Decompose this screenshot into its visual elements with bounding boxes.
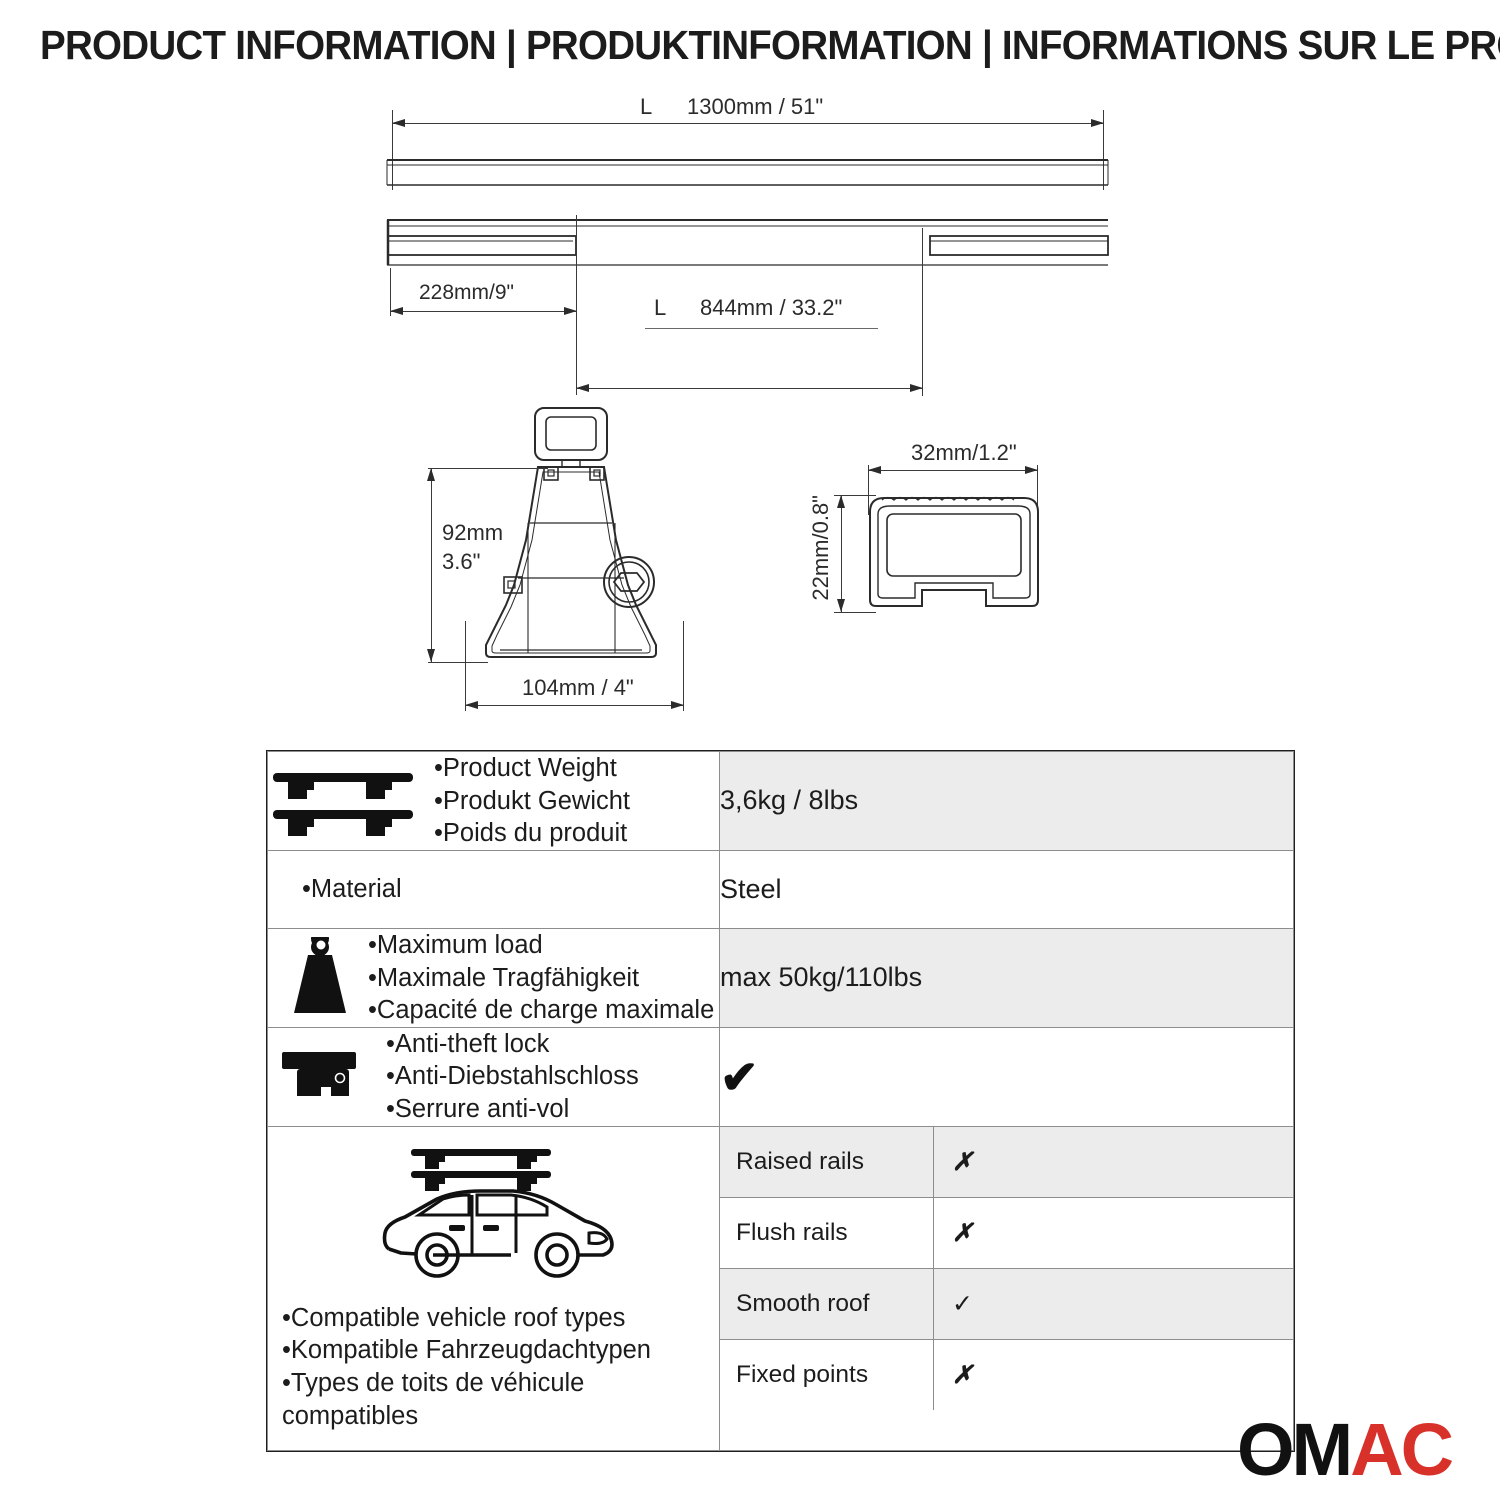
crossbar-side-view-top xyxy=(385,155,1110,195)
compat-mark: ✗ xyxy=(934,1339,1294,1410)
spec-label: •Types de toits de véhicule xyxy=(282,1367,651,1400)
cross-icon: ✗ xyxy=(952,1148,973,1176)
spec-value-material: Steel xyxy=(720,850,1294,928)
spec-label: •Product Weight xyxy=(434,752,630,785)
spec-value-weight: 3,6kg / 8lbs xyxy=(720,752,1294,851)
compat-row-flush-rails: Flush rails ✗ xyxy=(720,1197,1293,1268)
omac-logo: OMAC xyxy=(1237,1413,1451,1487)
table-row: •Product Weight •Produkt Gewicht •Poids … xyxy=(268,752,1294,851)
dimension-line-foot-width xyxy=(465,705,684,706)
bar-length-prefix: L xyxy=(640,94,652,120)
spec-label: •Capacité de charge maximale xyxy=(368,994,714,1027)
spec-label: compatibles xyxy=(282,1400,651,1433)
compat-row-raised-rails: Raised rails ✗ xyxy=(720,1127,1293,1198)
spread-underline xyxy=(645,328,878,329)
foot-height-line2: 3.6" xyxy=(442,549,480,575)
compat-name: Fixed points xyxy=(720,1339,934,1410)
table-row: •Maximum load •Maximale Tragfähigkeit •C… xyxy=(268,928,1294,1027)
bar-length-value: 1300mm / 51" xyxy=(687,94,823,120)
compat-name: Flush rails xyxy=(720,1197,934,1268)
spec-label: •Compatible vehicle roof types xyxy=(282,1302,651,1335)
spec-labels-material: •Material xyxy=(268,873,719,906)
foot-height-line1: 92mm xyxy=(442,520,503,546)
spec-label-cell-compatibility: •Compatible vehicle roof types •Kompatib… xyxy=(268,1126,720,1451)
dimension-line-foot-height xyxy=(431,468,432,662)
checkmark-icon: ✔ xyxy=(720,1054,759,1100)
compat-row-fixed-points: Fixed points ✗ xyxy=(720,1339,1293,1410)
table-row: •Anti-theft lock •Anti-Diebstahlschloss … xyxy=(268,1027,1294,1126)
crossbar-cross-section xyxy=(866,490,1046,620)
table-row: •Compatible vehicle roof types •Kompatib… xyxy=(268,1126,1294,1451)
compat-mark: ✗ xyxy=(934,1127,1294,1198)
spread-value: 844mm / 33.2" xyxy=(700,295,842,321)
spec-labels-compatibility: •Compatible vehicle roof types •Kompatib… xyxy=(282,1302,651,1433)
car-with-roof-rack-icon xyxy=(371,1141,623,1294)
extension-line-844-right xyxy=(922,228,923,396)
spec-value-lock: ✔ xyxy=(720,1027,1294,1126)
compatibility-options-cell: Raised rails ✗ Flush rails ✗ Smooth roof… xyxy=(720,1126,1294,1451)
extension-line-92-bottom xyxy=(428,662,488,663)
spec-labels-lock: •Anti-theft lock •Anti-Diebstahlschloss … xyxy=(386,1028,639,1126)
foot-offset-label: 228mm/9" xyxy=(419,281,514,305)
spec-label: •Kompatible Fahrzeugdachtypen xyxy=(282,1334,651,1367)
foot-width-label: 104mm / 4" xyxy=(522,675,634,701)
product-information-sheet: PRODUCT INFORMATION | PRODUKTINFORMATION… xyxy=(0,0,1500,1500)
spec-label-cell-weight: •Product Weight •Produkt Gewicht •Poids … xyxy=(268,752,720,851)
extension-line-104-left xyxy=(465,621,466,711)
table-row: •Material Steel xyxy=(268,850,1294,928)
lock-icon xyxy=(268,1046,364,1108)
logo-text-ac: AC xyxy=(1350,1408,1451,1491)
spec-label: •Maximale Tragfähigkeit xyxy=(368,962,714,995)
spec-labels-weight: •Product Weight •Produkt Gewicht •Poids … xyxy=(434,752,630,850)
profile-width-label: 32mm/1.2" xyxy=(911,440,1017,466)
spec-label: •Anti-Diebstahlschloss xyxy=(386,1060,639,1093)
tower-foot-front-view xyxy=(440,405,700,690)
spec-label: •Material xyxy=(302,873,719,906)
cross-icon: ✗ xyxy=(952,1361,973,1389)
spec-label: •Anti-theft lock xyxy=(386,1028,639,1061)
compat-mark: ✓ xyxy=(934,1268,1294,1339)
compat-name: Smooth roof xyxy=(720,1268,934,1339)
compat-mark: ✗ xyxy=(934,1197,1294,1268)
dimension-line-profile-width xyxy=(868,470,1038,471)
specification-table: •Product Weight •Produkt Gewicht •Poids … xyxy=(266,750,1295,1452)
compat-name: Raised rails xyxy=(720,1127,934,1198)
page-title: PRODUCT INFORMATION | PRODUKTINFORMATION… xyxy=(40,22,1384,69)
dimension-line-bar-length xyxy=(392,123,1104,124)
extension-line-228-right xyxy=(576,215,577,395)
two-crossbars-icon xyxy=(268,765,418,837)
crossbar-top-view xyxy=(385,215,1110,275)
spec-label: •Poids du produit xyxy=(434,817,630,850)
profile-height-label: 22mm/0.8" xyxy=(808,495,834,601)
spec-label-cell-material: •Material xyxy=(268,850,720,928)
extension-line-104-right xyxy=(683,621,684,711)
spec-label: •Maximum load xyxy=(368,929,714,962)
spread-prefix: L xyxy=(654,295,666,321)
compatibility-table: Raised rails ✗ Flush rails ✗ Smooth roof… xyxy=(720,1127,1293,1410)
spec-label-cell-lock: •Anti-theft lock •Anti-Diebstahlschloss … xyxy=(268,1027,720,1126)
dimension-line-spread xyxy=(576,388,923,389)
cross-icon: ✗ xyxy=(952,1219,973,1247)
spec-label: •Serrure anti-vol xyxy=(386,1093,639,1126)
spec-label-cell-maxload: •Maximum load •Maximale Tragfähigkeit •C… xyxy=(268,928,720,1027)
dimension-line-foot-offset xyxy=(390,311,577,312)
spec-labels-maxload: •Maximum load •Maximale Tragfähigkeit •C… xyxy=(368,929,714,1027)
logo-text-om: OM xyxy=(1237,1408,1350,1491)
spec-value-maxload: max 50kg/110lbs xyxy=(720,928,1294,1027)
spec-label: •Produkt Gewicht xyxy=(434,785,630,818)
checkmark-icon: ✓ xyxy=(952,1290,973,1318)
weight-icon xyxy=(268,937,358,1019)
extension-line-92-top xyxy=(428,468,548,469)
compat-row-smooth-roof: Smooth roof ✓ xyxy=(720,1268,1293,1339)
dimension-line-profile-height xyxy=(841,495,842,612)
